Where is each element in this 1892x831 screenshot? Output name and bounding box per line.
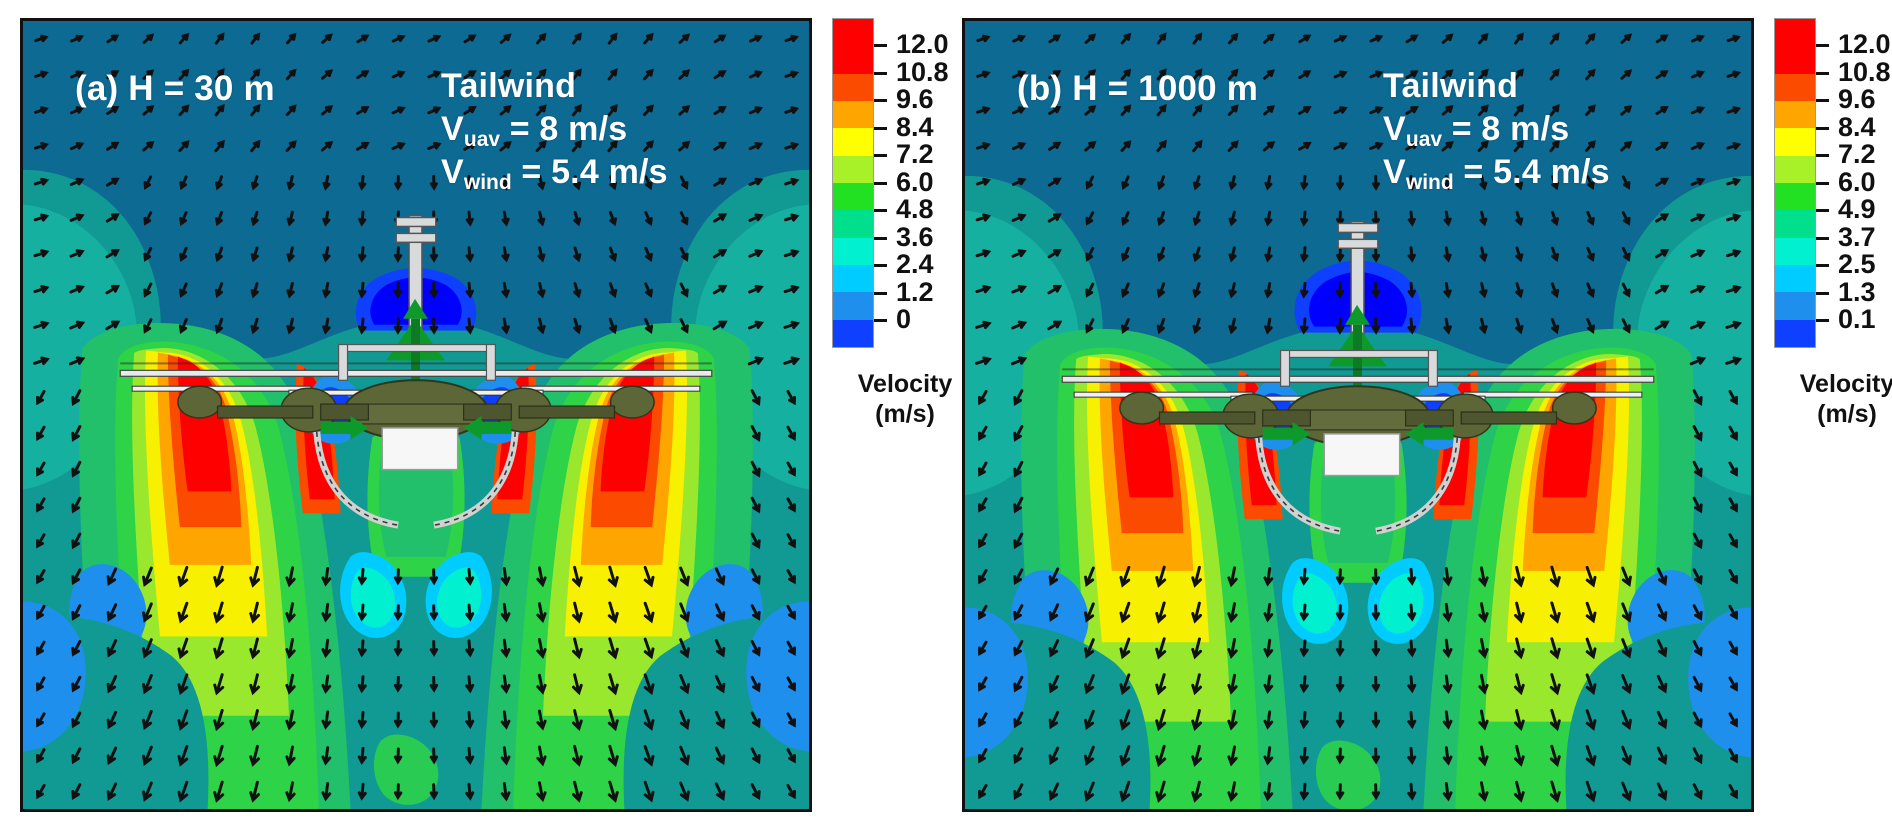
colorbar-segment (833, 74, 873, 101)
v-wind-value-b: = 5.4 m/s (1454, 153, 1610, 191)
panel-conditions-b: Tailwind Vuav = 8 m/s Vwind = 5.4 m/s (1383, 65, 1610, 193)
panel-label-b: (b) H = 1000 m (1017, 69, 1258, 109)
tick-dash (1816, 264, 1829, 267)
colorbar-segment (1775, 265, 1815, 292)
tick-value: 12.0 (1838, 31, 1891, 58)
tick-dash (874, 99, 887, 102)
tick-value: 8.4 (896, 114, 934, 141)
v-wind-symbol-b: V (1383, 153, 1406, 191)
tick-dash (1816, 72, 1829, 75)
tick-dash (1816, 99, 1829, 102)
colorbar-segment (833, 183, 873, 210)
tick-value: 10.8 (1838, 59, 1891, 86)
v-uav-line-b: Vuav = 8 m/s (1383, 108, 1610, 151)
v-uav-value-a: = 8 m/s (500, 110, 627, 148)
colorbar-segment (833, 19, 873, 46)
v-wind-line-a: Vwind = 5.4 m/s (441, 151, 668, 194)
colorbar-group-a: 12.010.89.68.47.26.04.83.62.41.20 Veloci… (832, 18, 874, 348)
condition-text-a: Tailwind (441, 65, 668, 108)
colorbar-b (1774, 18, 1816, 348)
uav-geometry-a (23, 21, 809, 809)
v-uav-symbol-a: V (441, 110, 464, 148)
plot-area-b: (b) H = 1000 m Tailwind Vuav = 8 m/s Vwi… (962, 18, 1754, 812)
tick-value: 6.0 (1838, 169, 1876, 196)
tick-dash (1816, 209, 1829, 212)
tick-dash (874, 44, 887, 47)
v-uav-line-a: Vuav = 8 m/s (441, 108, 668, 151)
colorbar-segment (1775, 292, 1815, 319)
tick-dash (874, 209, 887, 212)
colorbar-segment (833, 292, 873, 319)
tick-value: 8.4 (1838, 114, 1876, 141)
tick-dash (1816, 319, 1829, 322)
tick-dash (874, 127, 887, 130)
tick-dash (874, 72, 887, 75)
panel-b: (b) H = 1000 m Tailwind Vuav = 8 m/s Vwi… (962, 18, 1754, 812)
panel-label-a: (a) H = 30 m (75, 69, 275, 109)
tick-dash (1816, 292, 1829, 295)
colorbar-title-b: Velocity (m/s) (1762, 370, 1892, 429)
uav-geometry-b (965, 21, 1751, 809)
tick-dash (1816, 154, 1829, 157)
colorbar-title-line1-b: Velocity (1762, 370, 1892, 400)
colorbar-ticks-b: 12.010.89.68.47.26.04.93.72.51.30.1 (1816, 18, 1892, 348)
v-uav-value-b: = 8 m/s (1442, 110, 1569, 148)
colorbar-segment (1775, 156, 1815, 183)
tick-value: 7.2 (1838, 141, 1876, 168)
colorbar-segment (833, 101, 873, 128)
v-wind-subscript-b: wind (1406, 171, 1454, 194)
colorbar-segment (1775, 238, 1815, 265)
colorbar-segment (1775, 320, 1815, 347)
tick-value: 4.9 (1838, 196, 1876, 223)
tick-dash (1816, 44, 1829, 47)
tick-dash (1816, 127, 1829, 130)
tick-value: 0 (896, 306, 911, 333)
colorbar-segment (1775, 128, 1815, 155)
tick-value: 2.5 (1838, 251, 1876, 278)
colorbar-segment (1775, 46, 1815, 73)
colorbar-segment (1775, 183, 1815, 210)
tick-value: 9.6 (1838, 86, 1876, 113)
tick-dash (1816, 237, 1829, 240)
colorbar-a (832, 18, 874, 348)
colorbar-title-line2-b: (m/s) (1762, 400, 1892, 430)
tick-dash (874, 264, 887, 267)
tick-dash (874, 292, 887, 295)
v-wind-value-a: = 5.4 m/s (512, 153, 668, 191)
tick-value: 12.0 (896, 31, 949, 58)
tick-value: 9.6 (896, 86, 934, 113)
panel-conditions-a: Tailwind Vuav = 8 m/s Vwind = 5.4 m/s (441, 65, 668, 193)
v-uav-subscript-a: uav (464, 128, 500, 151)
colorbar-segment (833, 46, 873, 73)
tick-value: 6.0 (896, 169, 934, 196)
v-uav-symbol-b: V (1383, 110, 1406, 148)
colorbar-segment (833, 156, 873, 183)
panel-a: (a) H = 30 m Tailwind Vuav = 8 m/s Vwind… (20, 18, 812, 812)
colorbar-segment (833, 128, 873, 155)
tick-value: 3.6 (896, 224, 934, 251)
plot-area-a: (a) H = 30 m Tailwind Vuav = 8 m/s Vwind… (20, 18, 812, 812)
colorbar-segment (1775, 19, 1815, 46)
colorbar-segment (1775, 74, 1815, 101)
condition-text-b: Tailwind (1383, 65, 1610, 108)
tick-dash (874, 319, 887, 322)
v-wind-subscript-a: wind (464, 171, 512, 194)
colorbar-segment (833, 320, 873, 347)
tick-dash (874, 237, 887, 240)
tick-value: 10.8 (896, 59, 949, 86)
v-wind-line-b: Vwind = 5.4 m/s (1383, 151, 1610, 194)
v-wind-symbol-a: V (441, 153, 464, 191)
cfd-figure: (a) H = 30 m Tailwind Vuav = 8 m/s Vwind… (0, 0, 1892, 831)
tick-dash (1816, 182, 1829, 185)
colorbar-segment (833, 210, 873, 237)
colorbar-segment (1775, 210, 1815, 237)
colorbar-segment (833, 238, 873, 265)
tick-value: 1.3 (1838, 279, 1876, 306)
colorbar-group-b: 12.010.89.68.47.26.04.93.72.51.30.1 Velo… (1774, 18, 1816, 348)
tick-value: 3.7 (1838, 224, 1876, 251)
colorbar-segment (833, 265, 873, 292)
tick-value: 1.2 (896, 279, 934, 306)
tick-dash (874, 154, 887, 157)
tick-value: 2.4 (896, 251, 934, 278)
v-uav-subscript-b: uav (1406, 128, 1442, 151)
tick-value: 4.8 (896, 196, 934, 223)
tick-dash (874, 182, 887, 185)
colorbar-segment (1775, 101, 1815, 128)
tick-value: 7.2 (896, 141, 934, 168)
tick-value: 0.1 (1838, 306, 1876, 333)
